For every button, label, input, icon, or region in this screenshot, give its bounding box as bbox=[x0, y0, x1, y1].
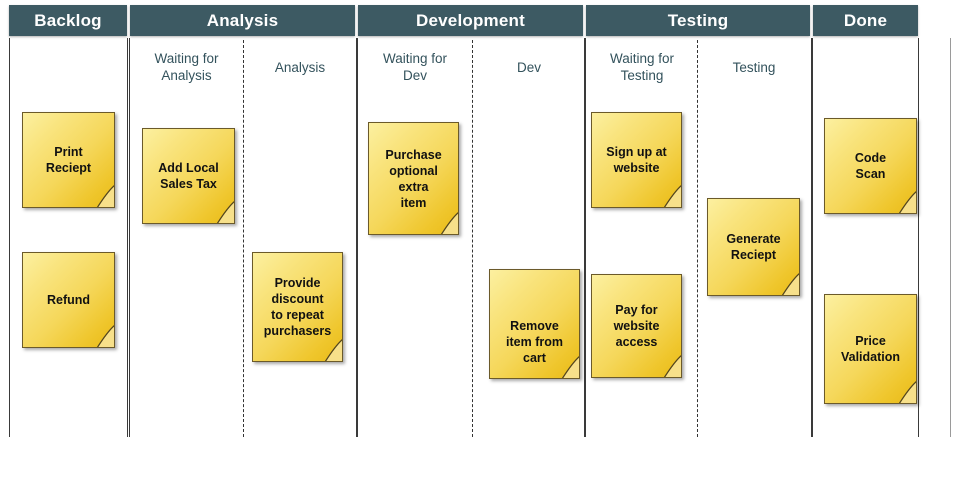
card-sign-up-at-website[interactable]: Sign up atwebsite bbox=[591, 112, 682, 208]
column-header-development[interactable]: Development bbox=[358, 5, 583, 36]
column-header-testing[interactable]: Testing bbox=[586, 5, 810, 36]
subcolumn-label-analysis: Analysis bbox=[248, 59, 352, 76]
card-provide-discount[interactable]: Providediscountto repeatpurchasers bbox=[252, 252, 343, 362]
card-remove-item-from-cart[interactable]: Removeitem fromcart bbox=[489, 269, 580, 379]
kanban-board: Backlog Analysis Development Testing Don… bbox=[0, 0, 960, 479]
subcolumn-label-testing: Testing bbox=[702, 59, 806, 76]
column-header-label: Development bbox=[416, 11, 525, 31]
column-header-done[interactable]: Done bbox=[813, 5, 918, 36]
card-label: Pay forwebsiteaccess bbox=[592, 302, 681, 350]
page-curl-icon bbox=[89, 318, 115, 348]
subcolumn-label-dev: Dev bbox=[477, 59, 581, 76]
card-label: PriceValidation bbox=[825, 333, 916, 365]
page-curl-icon bbox=[656, 348, 682, 378]
card-label: Refund bbox=[23, 292, 114, 308]
page-curl-icon bbox=[656, 178, 682, 208]
card-pay-for-website-access[interactable]: Pay forwebsiteaccess bbox=[591, 274, 682, 378]
column-header-backlog[interactable]: Backlog bbox=[9, 5, 127, 36]
card-generate-reciept[interactable]: GenerateReciept bbox=[707, 198, 800, 296]
card-label: Add LocalSales Tax bbox=[143, 160, 234, 192]
card-label: Purchaseoptionalextraitem bbox=[369, 147, 458, 211]
card-purchase-optional-extra-item[interactable]: Purchaseoptionalextraitem bbox=[368, 122, 459, 235]
page-curl-icon bbox=[891, 374, 917, 404]
subcolumn-label-waiting-for-testing: Waiting forTesting bbox=[590, 50, 694, 84]
page-curl-icon bbox=[89, 178, 115, 208]
subcolumn-divider-testing bbox=[697, 40, 698, 437]
column-header-label: Testing bbox=[668, 11, 729, 31]
card-label: Removeitem fromcart bbox=[490, 318, 579, 378]
card-refund[interactable]: Refund bbox=[22, 252, 115, 348]
page-curl-icon bbox=[209, 194, 235, 224]
card-label: Providediscountto repeatpurchasers bbox=[253, 275, 342, 339]
column-header-label: Done bbox=[844, 11, 887, 31]
column-header-label: Analysis bbox=[207, 11, 279, 31]
card-label: GenerateReciept bbox=[708, 231, 799, 263]
card-print-reciept[interactable]: PrintReciept bbox=[22, 112, 115, 208]
card-add-local-sales-tax[interactable]: Add LocalSales Tax bbox=[142, 128, 235, 224]
subcolumn-divider-development bbox=[472, 40, 473, 437]
canvas-right-rule bbox=[950, 38, 951, 437]
subcolumn-label-waiting-for-dev: Waiting forDev bbox=[362, 50, 468, 84]
card-label: CodeScan bbox=[825, 150, 916, 182]
subcolumn-label-waiting-for-analysis: Waiting forAnalysis bbox=[134, 50, 239, 84]
column-body-backlog bbox=[9, 38, 128, 437]
column-header-label: Backlog bbox=[34, 11, 102, 31]
card-code-scan[interactable]: CodeScan bbox=[824, 118, 917, 214]
card-label: PrintReciept bbox=[23, 144, 114, 176]
page-curl-icon bbox=[891, 184, 917, 214]
card-price-validation[interactable]: PriceValidation bbox=[824, 294, 917, 404]
subcolumn-divider-analysis bbox=[243, 40, 244, 437]
card-label: Sign up atwebsite bbox=[592, 144, 681, 176]
column-header-analysis[interactable]: Analysis bbox=[130, 5, 355, 36]
page-curl-icon bbox=[774, 266, 800, 296]
